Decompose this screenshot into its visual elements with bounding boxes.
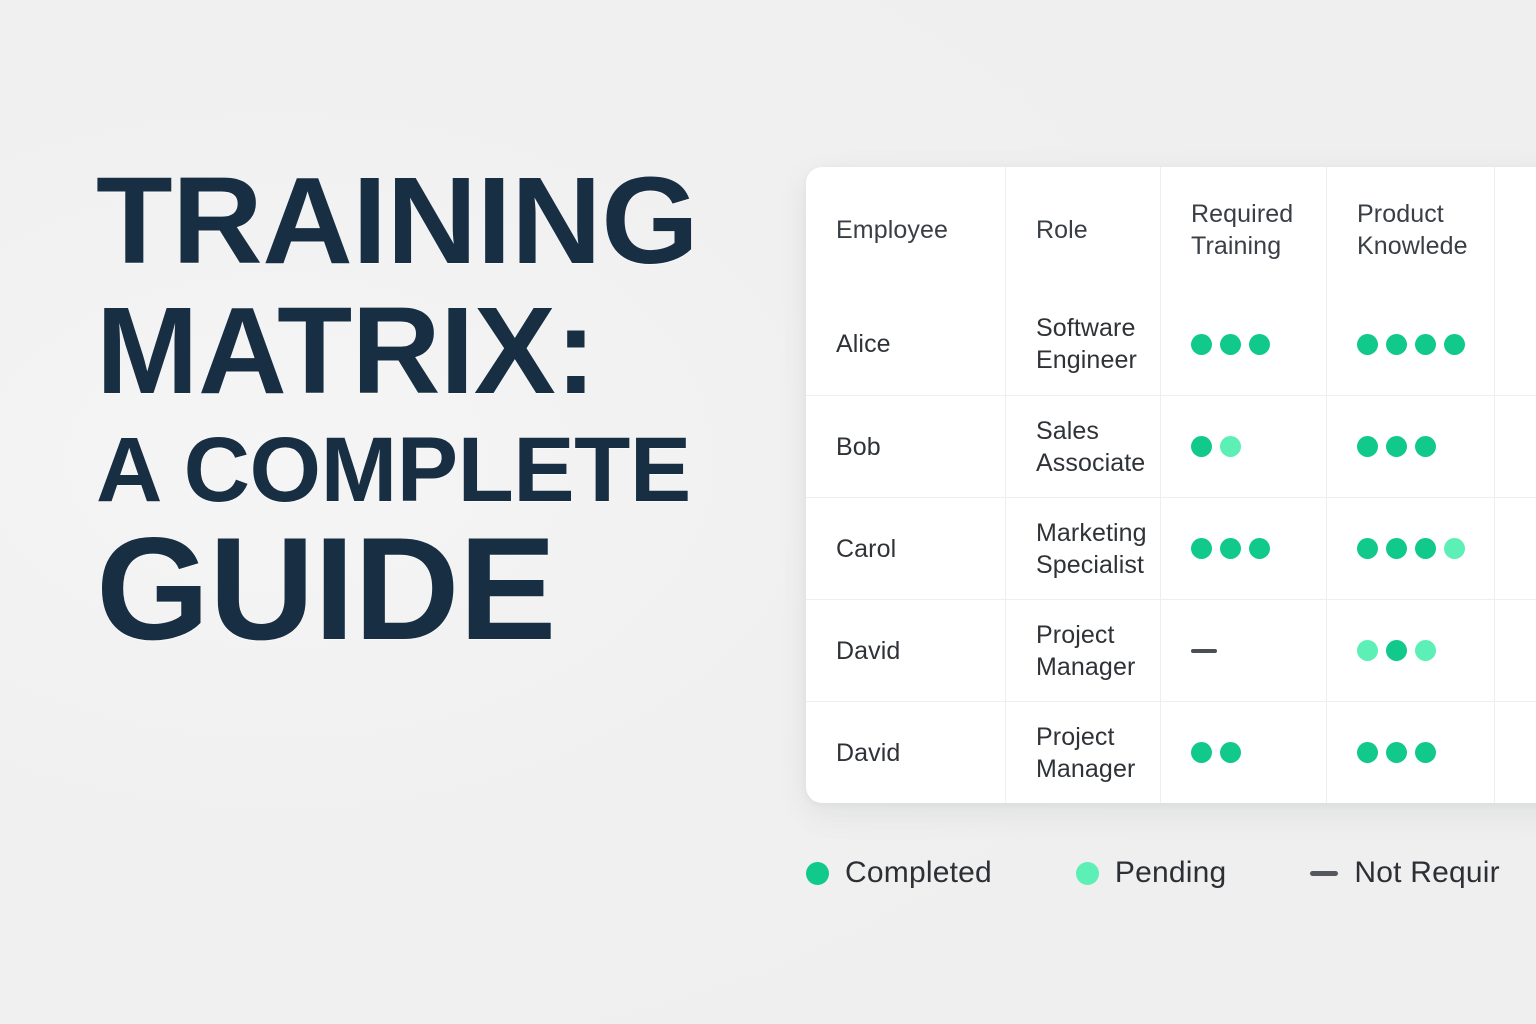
completed-dot-icon: [1415, 334, 1436, 355]
product-knowledge-markers: [1357, 538, 1465, 559]
completed-dot-icon: [1220, 334, 1241, 355]
title-line-1: TRAINING: [96, 168, 790, 276]
title-line-2: MATRIX:: [96, 298, 776, 406]
completed-dot-icon: [1386, 334, 1407, 355]
required-training-markers: [1191, 436, 1241, 457]
required-training-markers: [1191, 538, 1270, 559]
legend-label: Not Requir: [1354, 856, 1499, 890]
role-name: Marketing Specialist: [1036, 517, 1147, 581]
not-required-dash-icon: [1310, 871, 1338, 876]
cell-employee: Bob: [806, 396, 1006, 497]
completed-dot-icon: [1444, 334, 1465, 355]
cell-employee: Carol: [806, 498, 1006, 599]
cell-product-knowledge: [1327, 702, 1495, 803]
cell-role: Marketing Specialist: [1006, 498, 1161, 599]
cell-extra: [1495, 396, 1536, 497]
column-header-employee-label: Employee: [836, 214, 948, 246]
cell-product-knowledge: [1327, 600, 1495, 701]
table-row[interactable]: AliceSoftware Engineer: [806, 293, 1536, 395]
completed-dot-icon: [1249, 334, 1270, 355]
training-matrix-table: Employee Role Required Training Product …: [806, 167, 1536, 803]
product-knowledge-markers: [1357, 436, 1436, 457]
title-line-3: A COMPLETE: [96, 430, 776, 511]
legend-label: Pending: [1115, 856, 1227, 890]
required-training-markers: [1191, 742, 1241, 763]
completed-dot-icon: [1357, 538, 1378, 559]
cell-required-training: [1161, 396, 1327, 497]
column-header-role[interactable]: Role: [1006, 167, 1161, 293]
pending-dot-icon: [1444, 538, 1465, 559]
cell-extra: [1495, 702, 1536, 803]
legend-item-completed: Completed: [806, 856, 992, 890]
table-row[interactable]: CarolMarketing Specialist: [806, 497, 1536, 599]
completed-dot-icon: [1191, 742, 1212, 763]
column-header-required-training[interactable]: Required Training: [1161, 167, 1327, 293]
table-row[interactable]: DavidProject Manager: [806, 701, 1536, 803]
completed-dot-icon: [1357, 334, 1378, 355]
cell-extra: [1495, 498, 1536, 599]
cell-employee: David: [806, 600, 1006, 701]
cell-employee: David: [806, 702, 1006, 803]
table-header-row: Employee Role Required Training Product …: [806, 167, 1536, 293]
role-name: Software Engineer: [1036, 312, 1137, 376]
cell-required-training: [1161, 600, 1327, 701]
table-body: AliceSoftware EngineerBobSales Associate…: [806, 293, 1536, 803]
completed-dot-icon: [1357, 742, 1378, 763]
completed-dot-icon: [806, 862, 829, 885]
role-name: Project Manager: [1036, 619, 1135, 683]
completed-dot-icon: [1191, 538, 1212, 559]
employee-name: Carol: [836, 533, 896, 565]
cell-product-knowledge: [1327, 293, 1495, 395]
product-knowledge-markers: [1357, 742, 1436, 763]
pending-dot-icon: [1220, 436, 1241, 457]
required-training-markers: [1191, 649, 1217, 653]
column-header-employee[interactable]: Employee: [806, 167, 1006, 293]
completed-dot-icon: [1220, 538, 1241, 559]
employee-name: Bob: [836, 431, 881, 463]
legend-item-not-required: Not Requir: [1310, 856, 1499, 890]
completed-dot-icon: [1386, 742, 1407, 763]
pending-dot-icon: [1076, 862, 1099, 885]
cell-role: Sales Associate: [1006, 396, 1161, 497]
product-knowledge-markers: [1357, 640, 1436, 661]
completed-dot-icon: [1386, 436, 1407, 457]
column-header-product-knowledge-label: Product Knowlede: [1357, 198, 1468, 262]
completed-dot-icon: [1386, 538, 1407, 559]
cell-extra: [1495, 293, 1536, 395]
cell-extra: [1495, 600, 1536, 701]
completed-dot-icon: [1191, 334, 1212, 355]
column-header-role-label: Role: [1036, 214, 1088, 246]
employee-name: David: [836, 737, 900, 769]
product-knowledge-markers: [1357, 334, 1465, 355]
pending-dot-icon: [1415, 640, 1436, 661]
column-header-product-knowledge[interactable]: Product Knowlede: [1327, 167, 1495, 293]
completed-dot-icon: [1386, 640, 1407, 661]
cell-role: Software Engineer: [1006, 293, 1161, 395]
table-row[interactable]: BobSales Associate: [806, 395, 1536, 497]
column-header-required-training-label: Required Training: [1191, 198, 1296, 262]
completed-dot-icon: [1415, 742, 1436, 763]
completed-dot-icon: [1191, 436, 1212, 457]
cell-required-training: [1161, 293, 1327, 395]
cell-role: Project Manager: [1006, 600, 1161, 701]
column-header-extra[interactable]: [1495, 167, 1536, 293]
cell-product-knowledge: [1327, 498, 1495, 599]
completed-dot-icon: [1357, 436, 1378, 457]
cell-employee: Alice: [806, 293, 1006, 395]
completed-dot-icon: [1415, 436, 1436, 457]
cell-product-knowledge: [1327, 396, 1495, 497]
title-line-4: GUIDE: [96, 525, 776, 653]
role-name: Sales Associate: [1036, 415, 1145, 479]
cell-role: Project Manager: [1006, 702, 1161, 803]
cell-required-training: [1161, 498, 1327, 599]
legend-item-pending: Pending: [1076, 856, 1227, 890]
employee-name: Alice: [836, 328, 891, 360]
pending-dot-icon: [1357, 640, 1378, 661]
page-title: TRAINING MATRIX: A COMPLETE GUIDE: [96, 168, 776, 654]
legend-label: Completed: [845, 856, 992, 890]
legend: CompletedPendingNot Requir: [806, 856, 1500, 890]
employee-name: David: [836, 635, 900, 667]
completed-dot-icon: [1220, 742, 1241, 763]
role-name: Project Manager: [1036, 721, 1135, 785]
poster-canvas: TRAINING MATRIX: A COMPLETE GUIDE Employ…: [0, 0, 1536, 1024]
completed-dot-icon: [1249, 538, 1270, 559]
cell-required-training: [1161, 702, 1327, 803]
not-required-dash-icon: [1191, 649, 1217, 653]
required-training-markers: [1191, 334, 1270, 355]
completed-dot-icon: [1415, 538, 1436, 559]
table-row[interactable]: DavidProject Manager: [806, 599, 1536, 701]
